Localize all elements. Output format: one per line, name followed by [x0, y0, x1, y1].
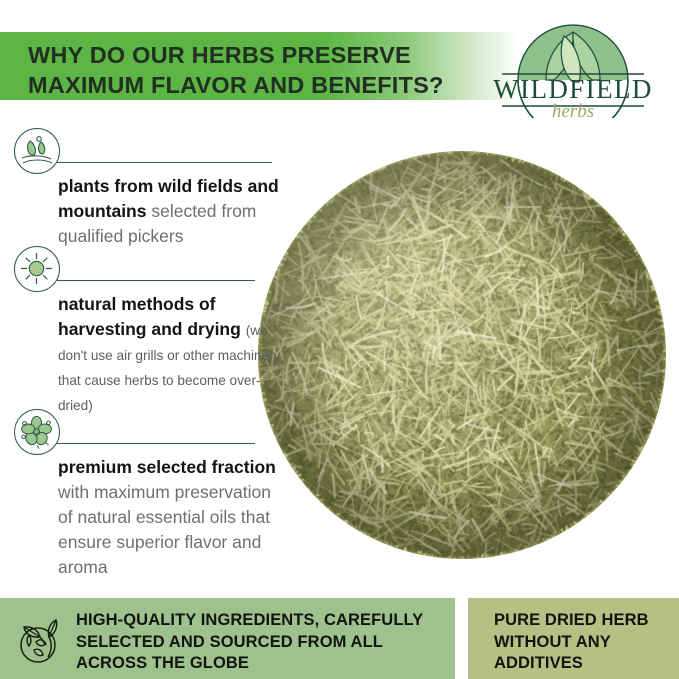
banner-pure-line2: WITHOUT ANY: [494, 632, 674, 654]
banner-pure-line1: PURE DRIED HERB: [494, 610, 674, 632]
banner-quality: HIGH-QUALITY INGREDIENTS, CAREFULLY SELE…: [0, 598, 455, 679]
sun-icon: [14, 246, 60, 292]
page-title-line2: MAXIMUM FLAVOR AND BENEFITS?: [28, 70, 498, 100]
flower-icon: [14, 409, 60, 455]
feature-text-1: plants from wild fields and mountains se…: [58, 174, 288, 249]
feature-bold-3: premium selected fraction: [58, 457, 276, 477]
product-photo: [258, 143, 672, 573]
feature-rule-3: [57, 443, 255, 444]
feature-text-2: natural methods of harvesting and drying…: [58, 292, 288, 417]
feature-regular-3: with maximum preservation of natural ess…: [58, 482, 271, 577]
infographic-canvas: WHY DO OUR HERBS PRESERVE MAXIMUM FLAVOR…: [0, 0, 679, 679]
banner-quality-text: HIGH-QUALITY INGREDIENTS, CAREFULLY SELE…: [76, 610, 446, 675]
feature-rule-2: [57, 280, 255, 281]
banner-pure-text: PURE DRIED HERB WITHOUT ANY ADDITIVES: [494, 610, 674, 675]
page-title: WHY DO OUR HERBS PRESERVE MAXIMUM FLAVOR…: [28, 40, 498, 100]
globe-leaves-icon: [14, 612, 66, 666]
banner-pure: PURE DRIED HERB WITHOUT ANY ADDITIVES: [468, 598, 679, 679]
banner-quality-line3: ACROSS THE GLOBE: [76, 653, 446, 675]
page-title-line1: WHY DO OUR HERBS PRESERVE: [28, 42, 411, 68]
feature-text-3: premium selected fraction with maximum p…: [58, 455, 288, 580]
banner-quality-line2: SELECTED AND SOURCED FROM ALL: [76, 632, 446, 654]
logo-brand-text: WILDFIELD: [493, 74, 653, 104]
feature-rule-1: [57, 162, 272, 163]
banner-quality-line1: HIGH-QUALITY INGREDIENTS, CAREFULLY: [76, 610, 446, 632]
feature-bold-2: natural methods of harvesting and drying: [58, 294, 241, 339]
logo-script-text: herbs: [552, 101, 594, 118]
banner-pure-line3: ADDITIVES: [494, 653, 674, 675]
brand-logo: WILDFIELD herbs: [484, 18, 662, 118]
herb-pile-image: [258, 151, 666, 559]
sprouts-field-icon: [14, 128, 60, 174]
